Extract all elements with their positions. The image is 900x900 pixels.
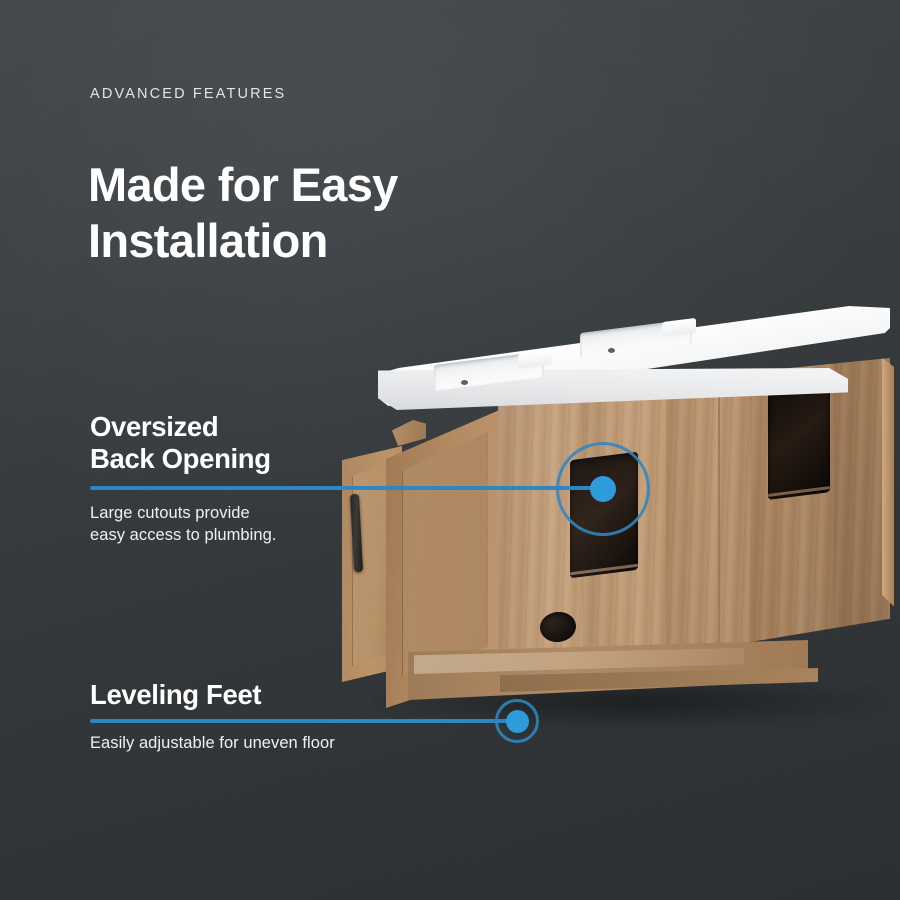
page-title: Made for Easy Installation [88, 157, 398, 270]
leader-line-leveling-feet [318, 719, 520, 723]
feature-callout-back-opening: Oversized Back Opening [90, 411, 390, 475]
feature-desc-wrap-back-opening: Large cutouts provide easy access to plu… [90, 503, 380, 547]
feature-callout-leveling-feet: Leveling Feet [90, 679, 410, 711]
sink-drain-right [608, 348, 615, 353]
cabinet-door-hinge-bracket [392, 420, 426, 446]
cabinet-side-panel-inset [402, 432, 488, 676]
back-opening-cutout-right [768, 382, 830, 500]
feature-desc-wrap-leveling-feet: Easily adjustable for uneven floor [90, 733, 450, 755]
feature-title: Leveling Feet [90, 679, 410, 711]
sink-drain-left [461, 380, 468, 385]
eyebrow-label: ADVANCED FEATURES [90, 86, 286, 102]
feature-title: Oversized Back Opening [90, 411, 390, 475]
marker-dot-icon [590, 476, 616, 502]
feature-description: Large cutouts provide easy access to plu… [90, 503, 380, 547]
infographic-canvas: ADVANCED FEATURES Made for Easy Installa… [0, 0, 900, 900]
feature-description: Easily adjustable for uneven floor [90, 733, 450, 755]
marker-dot-icon [506, 710, 529, 733]
feature-rule-back-opening [90, 486, 322, 490]
back-panel-seam [718, 374, 720, 676]
feature-rule-leveling-feet [90, 719, 322, 723]
